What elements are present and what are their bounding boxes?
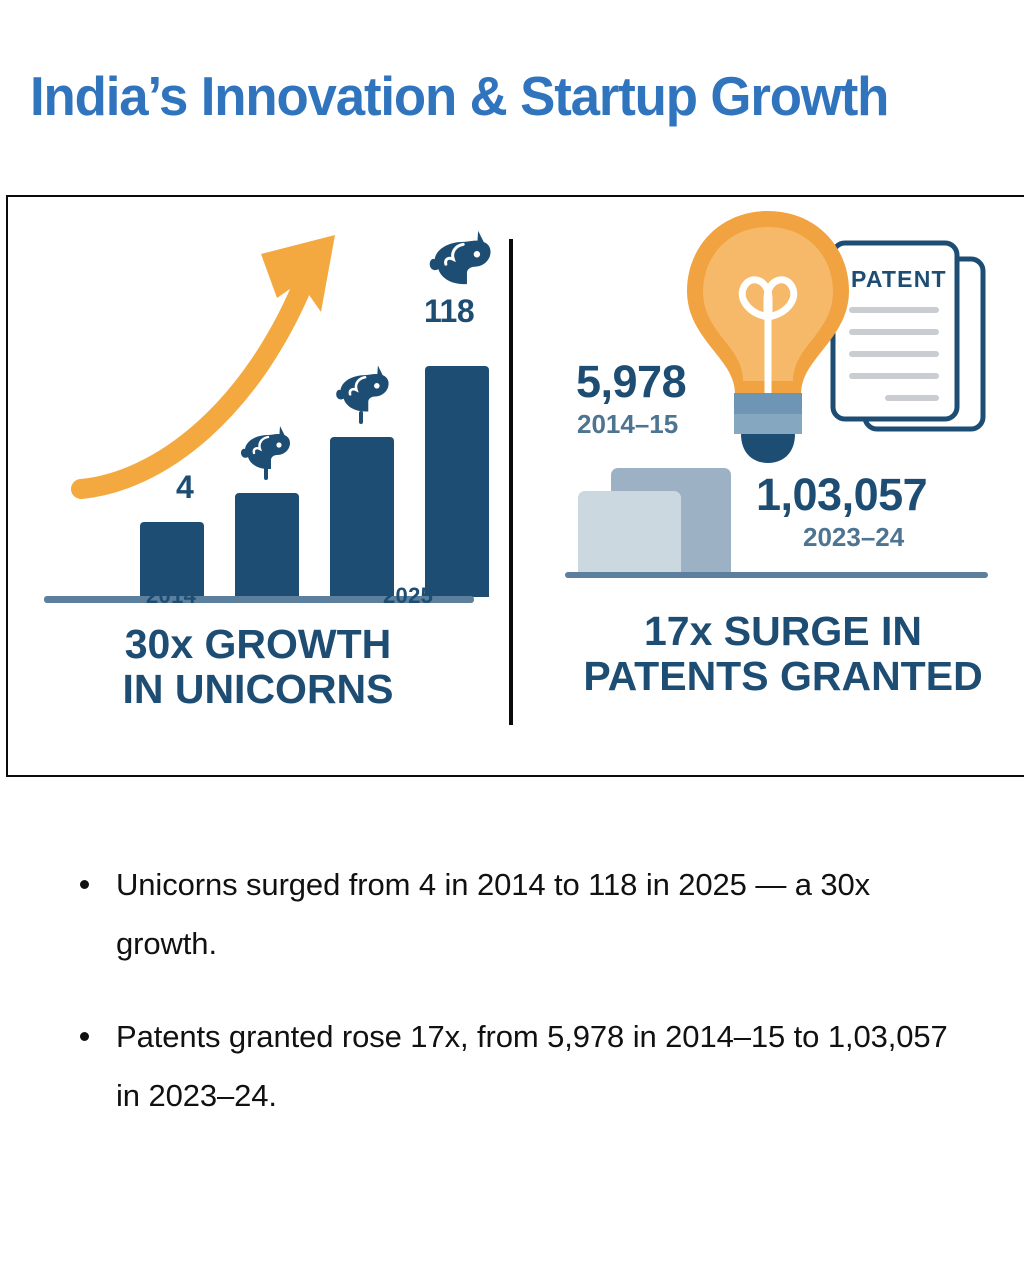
patent-document-label: PATENT [851,266,947,292]
list-item: Patents granted rose 17x, from 5,978 in … [72,1007,972,1125]
axis-label-2025: 2025 [383,583,433,609]
patents-stat-old-value: 5,978 [576,356,686,408]
bar-2025 [425,366,489,597]
unicorn-head-icon [238,424,296,472]
patents-stat-new-value: 1,03,057 [756,469,927,521]
patents-bar-front [578,491,681,574]
unicorn-head-icon [426,228,498,288]
summary-bullet-list: Unicorns surged from 4 in 2014 to 118 in… [72,855,972,1159]
bullet-dot-icon [80,1032,89,1041]
unicorn-head-icon [333,363,395,415]
unicorn-headline: 30x GROWTH IN UNICORNS [38,622,478,712]
patents-stat-old-year: 2014–15 [577,409,678,440]
bullet-dot-icon [80,880,89,889]
infographic-panel: 4 118 2014 2025 [6,195,1024,777]
patents-visual: PATENT 5,978 2014–15 1,03,057 2023–24 [513,197,1024,597]
patents-headline: 17x SURGE IN PATENTS GRANTED [548,609,1018,699]
page-title: India’s Innovation & Startup Growth [30,66,971,126]
unicorn-bar-chart: 4 118 2014 2025 [8,197,508,597]
lightbulb-icon [673,205,863,465]
bullet-text: Patents granted rose 17x, from 5,978 in … [116,1019,948,1113]
bar-value-2025: 118 [424,293,474,330]
patents-headline-line2: PATENTS GRANTED [548,654,1018,699]
patents-headline-line1: 17x SURGE IN [548,609,1018,654]
bar-mid-2 [330,437,394,597]
axis-label-2014: 2014 [146,583,196,609]
bar-mid-1 [235,493,299,597]
list-item: Unicorns surged from 4 in 2014 to 118 in… [72,855,972,973]
growth-arrow-icon [63,212,353,502]
bar-value-2014: 4 [176,469,193,506]
unicorn-headline-line1: 30x GROWTH [38,622,478,667]
unicorn-headline-line2: IN UNICORNS [38,667,478,712]
patents-baseline [565,572,988,578]
patents-stat-new-year: 2023–24 [803,522,904,553]
bullet-text: Unicorns surged from 4 in 2014 to 118 in… [116,867,870,961]
